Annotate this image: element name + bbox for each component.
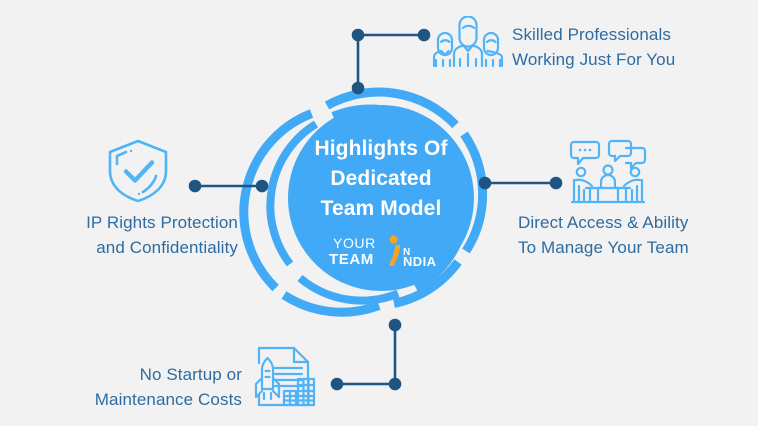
label-no-startup-costs-line-1: No Startup or [10, 362, 242, 387]
label-ip-rights-line-2: and Confidentiality [20, 235, 238, 260]
connector-bottom-left [332, 320, 400, 389]
connector-middle-left [190, 181, 267, 191]
label-ip-rights-line-1: IP Rights Protection [20, 210, 238, 235]
center-hub: Highlights Of Dedicated Team Model YOUR … [288, 105, 474, 291]
connector-top-right [353, 30, 429, 93]
hub-title-line-3: Team Model [296, 194, 466, 224]
label-direct-access-line-1: Direct Access & Ability [518, 210, 753, 235]
yourteaminindia-logo: YOUR TEAM N NDIA [319, 233, 443, 269]
document-rocket-chart-icon [248, 343, 322, 413]
meeting-table-chat-icon [568, 138, 650, 206]
hub-title-line-1: Highlights Of [296, 134, 466, 164]
hub-title-line-2: Dedicated [296, 164, 466, 194]
infographic-canvas: Highlights Of Dedicated Team Model YOUR … [0, 0, 758, 426]
label-skilled-professionals: Skilled Professionals Working Just For Y… [512, 22, 747, 72]
label-skilled-professionals-line-2: Working Just For You [512, 47, 747, 72]
shield-check-icon [104, 138, 172, 204]
three-people-icon [432, 16, 504, 72]
label-direct-access: Direct Access & Ability To Manage Your T… [518, 210, 753, 260]
label-ip-rights: IP Rights Protection and Confidentiality [20, 210, 238, 260]
label-no-startup-costs-line-2: Maintenance Costs [10, 387, 242, 412]
hub-title: Highlights Of Dedicated Team Model [296, 134, 466, 224]
logo-word-your: YOUR [333, 235, 376, 251]
logo-word-team: TEAM [329, 251, 374, 268]
label-direct-access-line-2: To Manage Your Team [518, 235, 753, 260]
connector-middle-right [480, 178, 561, 188]
label-no-startup-costs: No Startup or Maintenance Costs [10, 362, 242, 412]
logo-orange-i-icon [389, 235, 401, 266]
label-skilled-professionals-line-1: Skilled Professionals [512, 22, 747, 47]
logo-word-ndia: NDIA [403, 254, 437, 269]
